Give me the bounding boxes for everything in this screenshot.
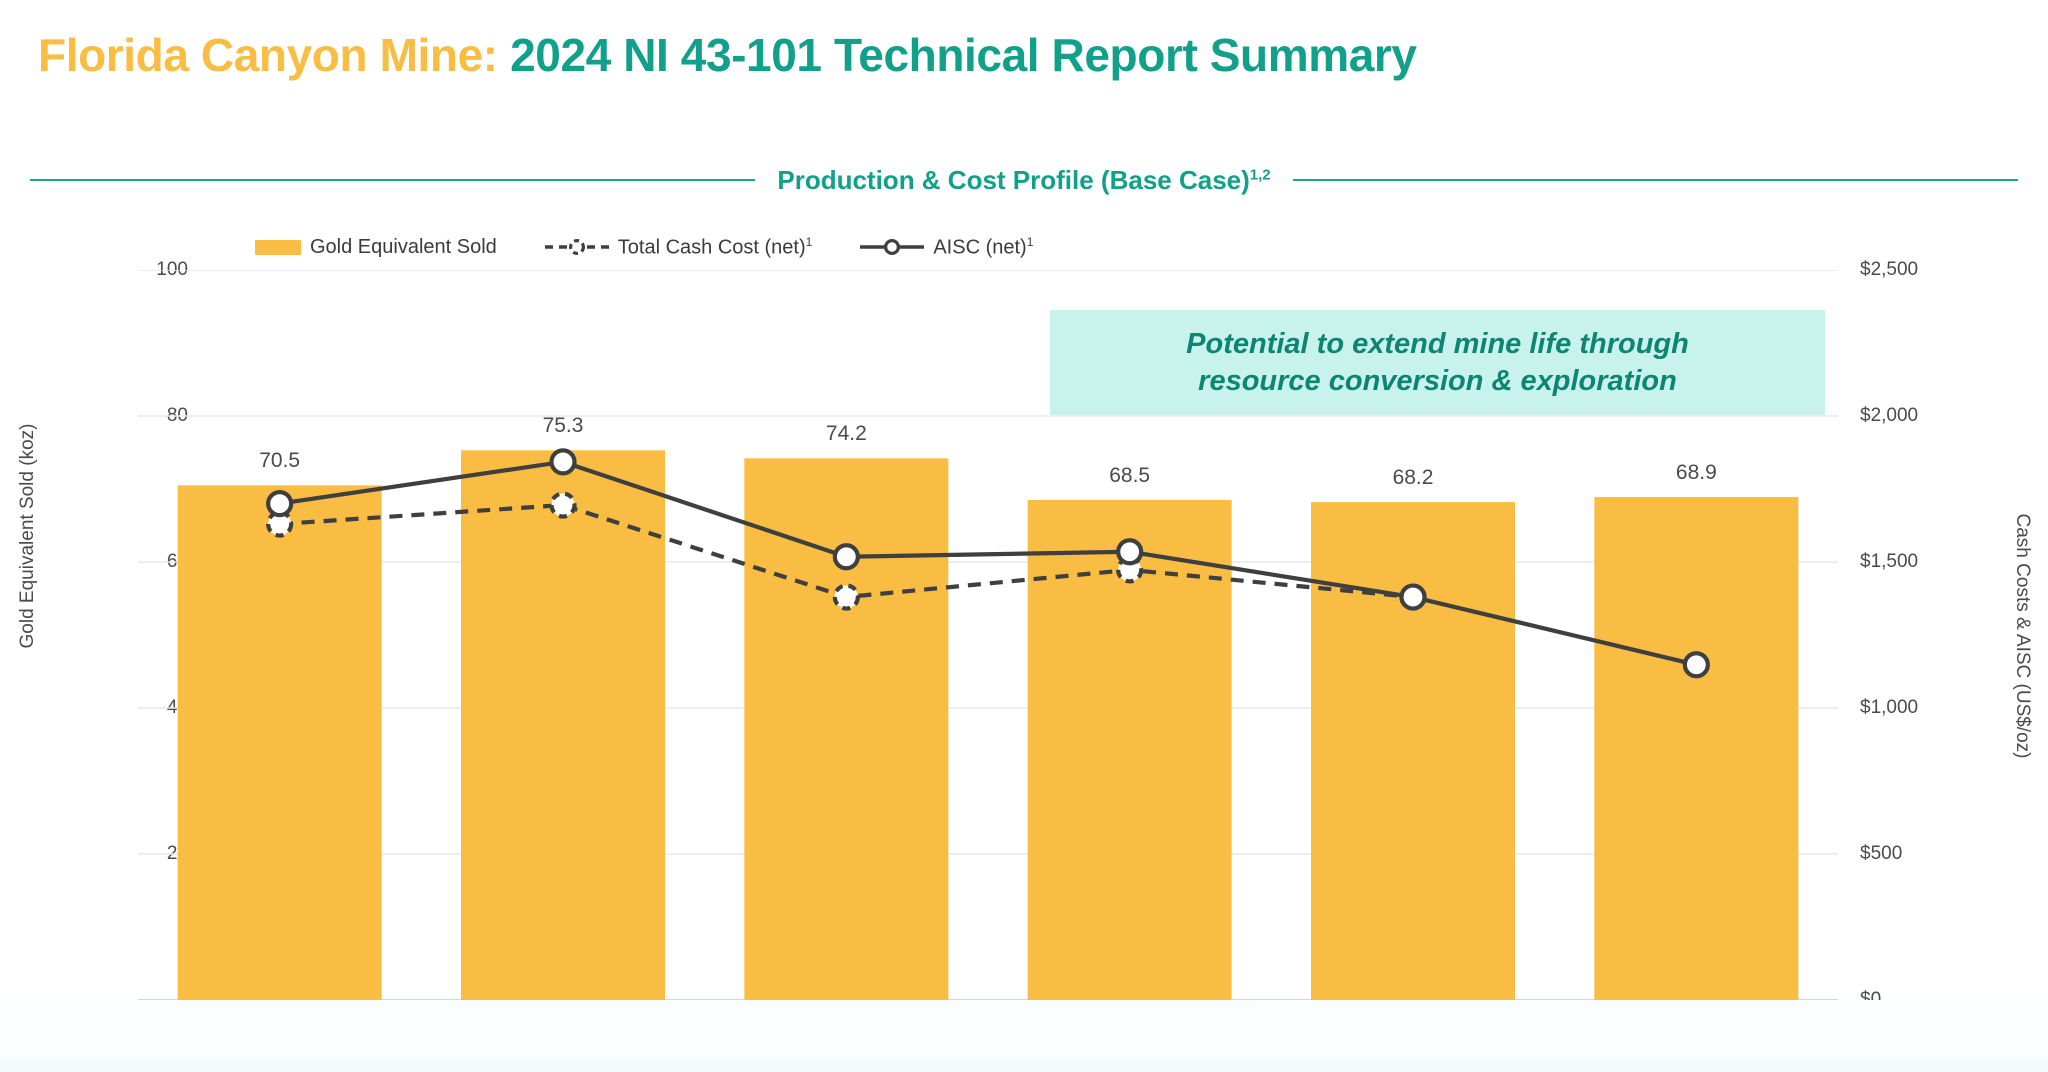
section-header: Production & Cost Profile (Base Case)1,2	[30, 158, 2018, 202]
chart-svg	[138, 270, 1838, 1000]
chart-plot-area	[138, 270, 1838, 1000]
data-point-marker[interactable]	[1118, 540, 1141, 563]
section-title-footnote: 1,2	[1250, 166, 1271, 183]
dashed-line-circle-icon	[545, 238, 609, 256]
page-title-company: Florida Canyon Mine:	[38, 29, 498, 81]
data-point-marker[interactable]	[835, 545, 858, 568]
y-axis-label-left: Gold Equivalent Sold (koz)	[17, 424, 39, 649]
section-rule-left	[30, 179, 755, 181]
section-rule-right	[1293, 179, 2018, 181]
y-axis-label-right: Cash Costs & AISC (US$/oz)	[2011, 514, 2033, 759]
bar[interactable]	[461, 450, 665, 1000]
chart-legend: Gold Equivalent Sold Total Cash Cost (ne…	[255, 232, 1033, 262]
legend-label-total-cash-cost-text: Total Cash Cost (net)	[618, 236, 806, 258]
legend-label-aisc-text: AISC (net)	[933, 236, 1026, 258]
data-point-marker[interactable]	[552, 450, 575, 473]
section-title: Production & Cost Profile (Base Case)1,2	[777, 165, 1270, 196]
y-tick-right: $1,000	[1860, 697, 2000, 719]
solid-line-circle-icon	[860, 238, 924, 256]
legend-footnote-aisc: 1	[1027, 235, 1034, 249]
data-point-marker[interactable]	[1685, 653, 1708, 676]
legend-label-gold-equivalent-sold: Gold Equivalent Sold	[310, 236, 497, 259]
section-title-text: Production & Cost Profile (Base Case)	[777, 165, 1249, 195]
bar-swatch-icon	[255, 240, 301, 255]
bottom-strip	[0, 1058, 2048, 1072]
data-point-marker[interactable]	[835, 586, 858, 609]
bar[interactable]	[744, 458, 948, 1000]
legend-item-aisc[interactable]: AISC (net)1	[860, 235, 1033, 260]
y-tick-right: $2,500	[1860, 259, 2000, 281]
data-point-marker[interactable]	[268, 492, 291, 515]
data-point-marker[interactable]	[1402, 586, 1425, 609]
data-point-marker[interactable]	[552, 494, 575, 517]
legend-item-gold-equivalent-sold[interactable]: Gold Equivalent Sold	[255, 236, 497, 259]
legend-label-total-cash-cost: Total Cash Cost (net)1	[618, 235, 813, 260]
y-tick-right: $500	[1860, 843, 2000, 865]
legend-label-aisc: AISC (net)1	[933, 235, 1033, 260]
page-title-report: 2024 NI 43-101 Technical Report Summary	[510, 29, 1417, 81]
legend-footnote-total-cash-cost: 1	[806, 235, 813, 249]
y-tick-right: $1,500	[1860, 551, 2000, 573]
axis-band	[0, 1000, 2048, 1062]
y-tick-right: $2,000	[1860, 405, 2000, 427]
bar[interactable]	[178, 485, 382, 1000]
bar[interactable]	[1311, 502, 1515, 1000]
page-title: Florida Canyon Mine: 2024 NI 43-101 Tech…	[38, 28, 1938, 90]
legend-item-total-cash-cost[interactable]: Total Cash Cost (net)1	[545, 235, 813, 260]
bar[interactable]	[1594, 497, 1798, 1000]
